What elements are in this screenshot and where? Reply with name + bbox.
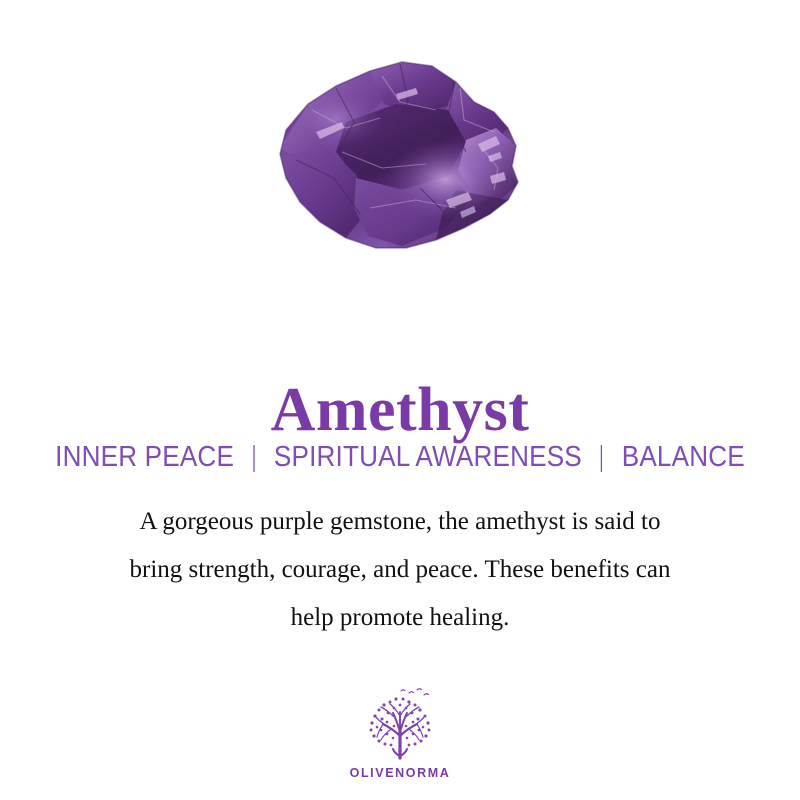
keyword-inner-peace: INNER PEACE [55, 441, 234, 473]
keyword-balance: BALANCE [622, 441, 745, 473]
amethyst-stone-image [0, 0, 800, 310]
keyword-spiritual-awareness: SPIRITUAL AWARENESS [274, 441, 582, 473]
description-text: A gorgeous purple gemstone, the amethyst… [50, 498, 750, 642]
keyword-separator: | [252, 442, 256, 474]
amethyst-crystal-illustration [250, 48, 550, 263]
tree-of-life-icon [357, 686, 443, 762]
description-line: A gorgeous purple gemstone, the amethyst… [50, 498, 750, 546]
brand-wordmark: OLIVENORMA [350, 766, 451, 780]
amethyst-product-card: Amethyst INNER PEACE | SPIRITUAL AWARENE… [0, 0, 800, 800]
description-line: bring strength, courage, and peace. Thes… [50, 546, 750, 594]
page-title: Amethyst [0, 378, 800, 443]
keyword-list: INNER PEACE | SPIRITUAL AWARENESS | BALA… [40, 442, 760, 474]
description-line: help promote healing. [50, 594, 750, 642]
keyword-separator: | [600, 442, 604, 474]
brand-logo: OLIVENORMA [0, 686, 800, 780]
